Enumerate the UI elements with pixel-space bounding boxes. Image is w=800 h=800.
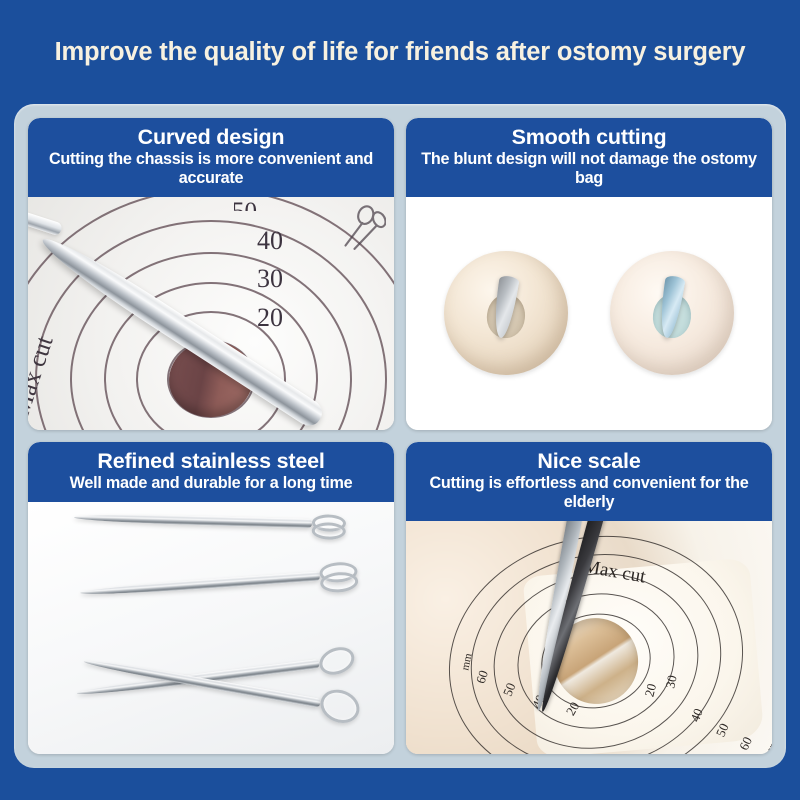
panel-title: Curved design: [38, 125, 384, 149]
photo-smooth-cutting: [406, 197, 772, 430]
scale-label-right-60: 60: [736, 734, 756, 753]
panel-grid: Curved design Cutting the chassis is mor…: [28, 118, 772, 754]
scale-label-right-30: 30: [663, 673, 681, 689]
panel-refined-stainless-steel: Refined stainless steel Well made and du…: [28, 442, 394, 754]
banner: Improve the quality of life for friends …: [0, 0, 800, 104]
photo-refined-stainless-steel: [28, 502, 394, 754]
panel-subtitle: The blunt design will not damage the ost…: [416, 150, 762, 188]
infographic-page: Improve the quality of life for friends …: [0, 0, 800, 800]
panel-curved-design: Curved design Cutting the chassis is mor…: [28, 118, 394, 430]
panel-subtitle: Cutting is effortless and convenient for…: [416, 474, 762, 512]
panel-header: Refined stainless steel Well made and du…: [28, 442, 394, 502]
scale-label-20: 20: [257, 305, 283, 331]
panel-subtitle: Well made and durable for a long time: [38, 474, 384, 493]
panel-header: Curved design Cutting the chassis is mor…: [28, 118, 394, 197]
scissors-icon: [332, 205, 386, 259]
panel-title: Smooth cutting: [416, 125, 762, 149]
panel-header: Nice scale Cutting is effortless and con…: [406, 442, 772, 521]
photo-nice-scale: mm 60 50 40 20 20 30 40 50 60 mm Max cut: [406, 521, 772, 754]
scissors-item: [74, 513, 312, 528]
unit-label-right: mm: [763, 738, 772, 754]
panel-subtitle: Cutting the chassis is more convenient a…: [38, 150, 384, 188]
panel-smooth-cutting: Smooth cutting The blunt design will not…: [406, 118, 772, 430]
scissors-item: [80, 571, 320, 597]
scale-label-40: 40: [257, 228, 283, 254]
scale-label-right-50: 50: [713, 721, 733, 739]
panel-header: Smooth cutting The blunt design will not…: [406, 118, 772, 197]
scale-label-50: 50: [232, 199, 257, 211]
photo-curved-design: 50 40 30 20 Max cut: [28, 197, 394, 430]
page-title: Improve the quality of life for friends …: [55, 38, 746, 67]
panel-title: Refined stainless steel: [38, 449, 384, 473]
ostomy-wafer-cream: [610, 251, 734, 375]
panel-frame: Curved design Cutting the chassis is mor…: [14, 104, 786, 768]
ostomy-wafer-beige: [444, 251, 568, 375]
panel-nice-scale: Nice scale Cutting is effortless and con…: [406, 442, 772, 754]
panel-title: Nice scale: [416, 449, 762, 473]
scale-label-30: 30: [257, 266, 283, 292]
